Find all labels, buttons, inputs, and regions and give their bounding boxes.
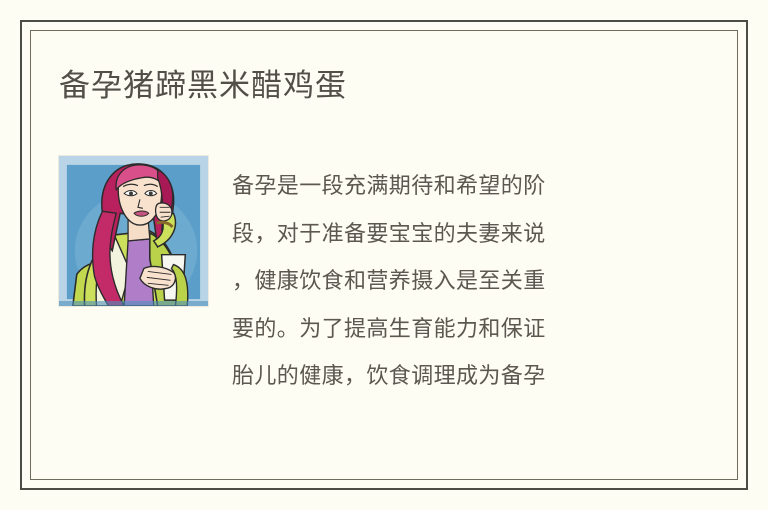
body-line: 胎儿的健康，饮食调理成为备孕 (232, 353, 648, 401)
article-content: 备孕猪蹄黑米醋鸡蛋 (0, 0, 768, 510)
body-line: 段，对于准备要宝宝的夫妻来说 (232, 211, 648, 259)
illustration-figure (58, 155, 209, 307)
article-page: 备孕猪蹄黑米醋鸡蛋 (0, 0, 768, 510)
woman-holding-glass-icon (59, 156, 208, 306)
page-title: 备孕猪蹄黑米醋鸡蛋 (59, 66, 347, 106)
body-line: ，健康饮食和营养摄入是至关重 (232, 258, 648, 306)
body-line: 要的。为了提高生育能力和保证 (232, 306, 648, 354)
body-line: 备孕是一段充满期待和希望的阶 (232, 163, 648, 211)
article-body: 备孕是一段充满期待和希望的阶 段，对于准备要宝宝的夫妻来说 ，健康饮食和营养摄入… (232, 163, 648, 401)
